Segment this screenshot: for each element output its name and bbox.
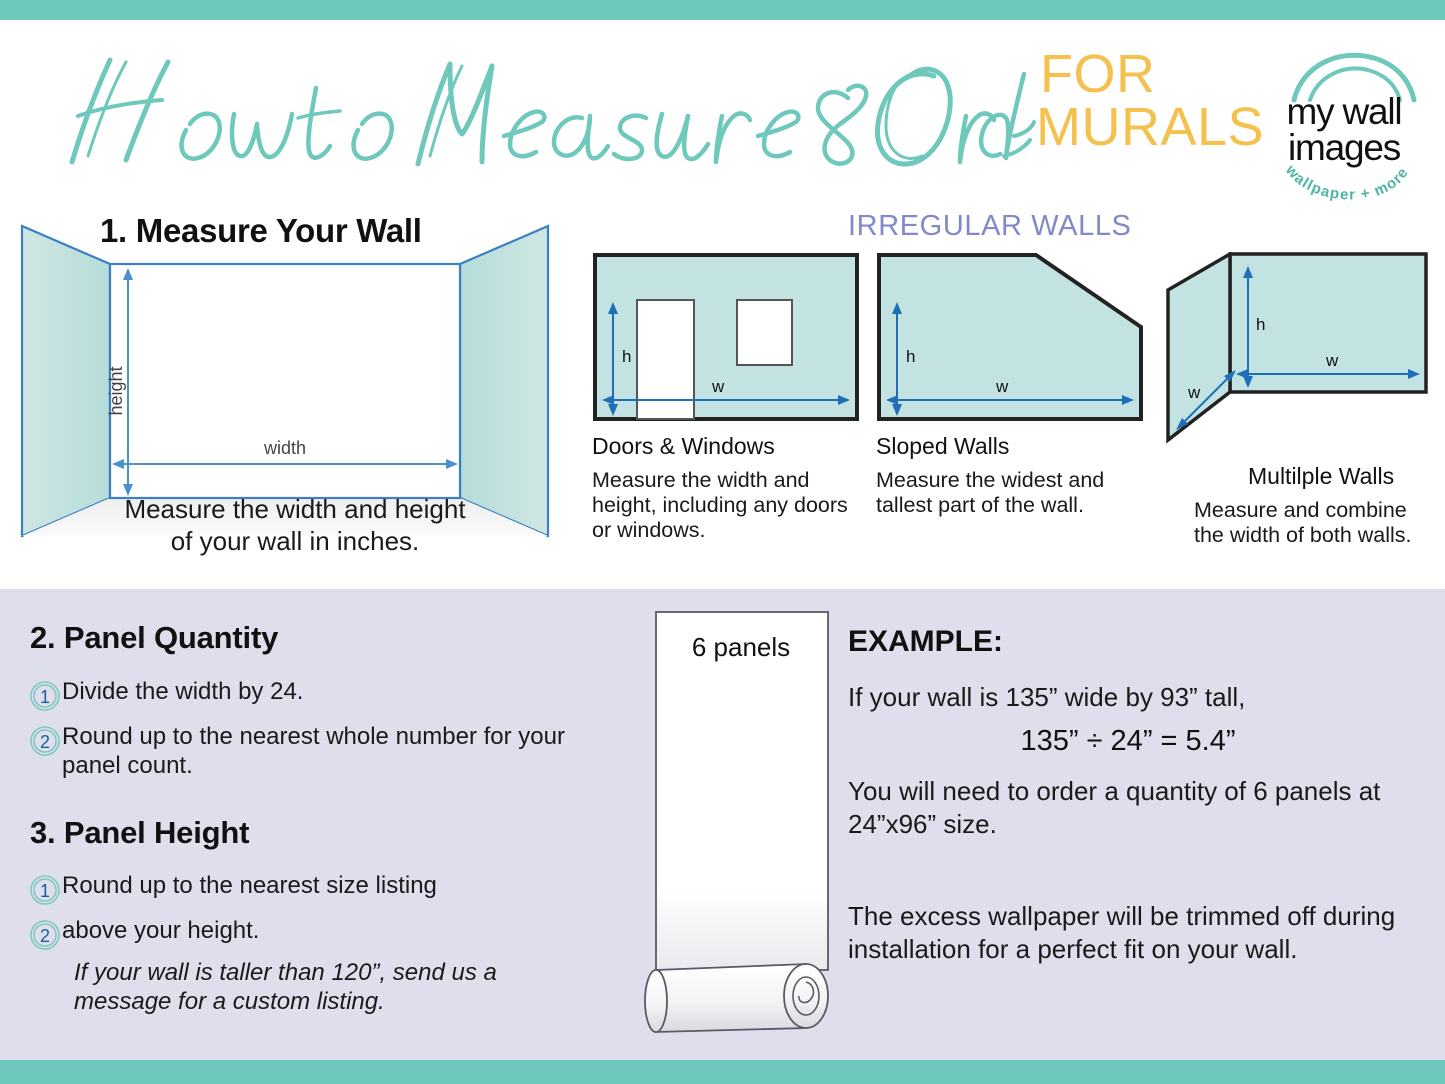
irregular-item-multiple-walls: h w w Multilple Walls Measure and combin… [1158,252,1438,548]
w-label-text: w [1325,351,1339,370]
step-number-badge: 1 [28,679,62,718]
irregular-item-desc: Measure the width and height, including … [592,468,860,543]
panel-height-step-2-text: above your height. [62,917,259,946]
section1-caption-line2: of your wall in inches. [60,526,530,558]
murals-label: MURALS [1036,101,1245,154]
panel-height-step-1: 1 Round up to the nearest size listing [28,872,588,912]
irregular-item-doors-windows: h w Doors & Windows Measure the width an… [592,252,860,543]
example-title: EXAMPLE: [848,625,1003,659]
bottom-accent-bar [0,1060,1445,1084]
panel-height-heading: 3. Panel Height [30,815,249,851]
page-title-script [58,44,1038,174]
step-number-text: 2 [40,926,50,946]
for-murals-label: FOR MURALS [1040,48,1245,154]
irregular-item-desc: Measure and combine the width of both wa… [1194,498,1438,548]
h-label-text: h [622,347,631,366]
example-line2: You will need to order a quantity of 6 p… [848,775,1408,842]
w-label-text: w [1187,383,1201,402]
example-equation: 135” ÷ 24” = 5.4” [848,725,1408,758]
example-line1: If your wall is 135” wide by 93” tall, [848,682,1428,713]
h-label-text: h [1256,315,1265,334]
step-number-badge: 2 [28,918,62,957]
logo-line1: my wall [1287,91,1402,132]
h-label-text: h [906,347,915,366]
step-number-text: 1 [40,687,50,707]
irregular-item-desc: Measure the widest and tallest part of t… [876,468,1144,518]
panel-quantity-step-1: 1 Divide the width by 24. [28,678,588,718]
section1-caption-line1: Measure the width and height [60,494,530,526]
roll-panel-count-label: 6 panels [655,632,827,663]
irregular-item-sloped-walls: h w Sloped Walls Measure the widest and … [876,252,1144,518]
sloped-wall-diagram: h w [876,252,1144,422]
irregular-item-name: Doors & Windows [592,433,860,460]
multiple-walls-diagram: h w w [1158,252,1438,452]
wallpaper-roll-illustration [634,608,849,1045]
example-line3: The excess wallpaper will be trimmed off… [848,900,1408,967]
infographic-page: FOR MURALS my wall images wallpaper + mo… [0,0,1445,1084]
irregular-walls-title: IRREGULAR WALLS [848,210,1132,243]
irregular-item-name: Sloped Walls [876,433,1144,460]
height-label-text: height [106,366,126,415]
for-label: FOR [1040,44,1156,104]
w-label-text: w [995,377,1009,396]
panel-quantity-step-2: 2 Round up to the nearest whole number f… [28,723,588,781]
step-number-badge: 1 [28,873,62,912]
panel-quantity-heading: 2. Panel Quantity [30,620,278,656]
width-label-text: width [263,438,306,458]
doors-windows-diagram: h w [592,252,860,422]
irregular-item-name: Multilple Walls [1248,463,1438,490]
panel-height-step-2: 2 above your height. [28,917,588,957]
panel-quantity-step-2-text: Round up to the nearest whole number for… [62,723,588,781]
panel-quantity-step-1-text: Divide the width by 24. [62,678,303,707]
section1-caption: Measure the width and height of your wal… [60,494,530,557]
logo-line2: images [1288,127,1401,168]
panel-height-step-1-text: Round up to the nearest size listing [62,872,437,901]
brand-logo: my wall images wallpaper + more [1258,42,1430,202]
panel-height-note: If your wall is taller than 120”, send u… [74,958,574,1017]
top-accent-bar [0,0,1445,20]
step-number-text: 1 [40,881,50,901]
w-label-text: w [711,377,725,396]
step-number-badge: 2 [28,724,62,763]
step-number-text: 2 [40,732,50,752]
